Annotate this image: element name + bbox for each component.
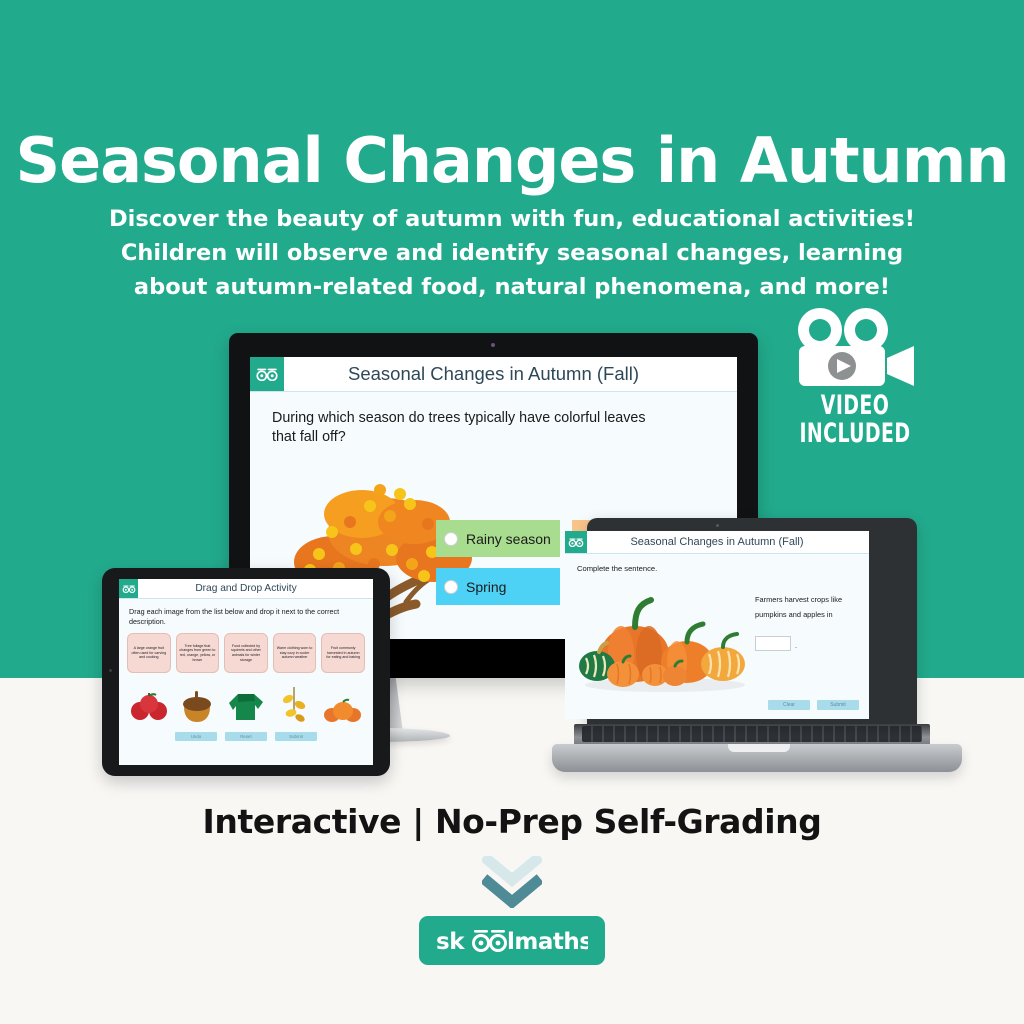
laptop-device: Seasonal Changes in Autumn (Fall) Comple…: [552, 518, 962, 780]
submit-button[interactable]: Submit: [275, 732, 317, 741]
activity-buttons: Undo Reset Submit: [175, 732, 317, 741]
subtitle-line-1: Discover the beauty of autumn with fun, …: [95, 202, 929, 236]
sentence-period: .: [795, 643, 797, 650]
submit-button[interactable]: Submit: [817, 700, 859, 710]
description-card[interactable]: Food collected by squirrels and other an…: [224, 633, 268, 673]
description-cards: A large orange fruit often used for carv…: [127, 633, 365, 673]
option-label: Rainy season: [466, 531, 551, 547]
option-spring[interactable]: Spring: [436, 568, 560, 605]
autumn-leaves-icon[interactable]: [273, 681, 317, 723]
video-badge-line-1: VIDEO: [797, 392, 914, 420]
tablet-device: Drag and Drop Activity Drag each image f…: [102, 568, 390, 776]
app-body-laptop: Complete the sentence.: [565, 554, 869, 719]
option-rainy-season[interactable]: Rainy season: [436, 520, 560, 557]
radio-icon[interactable]: [444, 532, 458, 546]
monitor-webcam-icon: [491, 343, 495, 347]
sentence-text: Farmers harvest crops like pumpkins and …: [755, 592, 863, 622]
sentence-line-2: pumpkins and apples in: [755, 607, 863, 622]
page-title: Seasonal Changes in Autumn: [0, 128, 1024, 193]
app-header-monitor: Seasonal Changes in Autumn (Fall): [250, 357, 737, 392]
skoolmaths-logo[interactable]: sk lmaths: [419, 916, 605, 965]
option-label: Spring: [466, 579, 506, 595]
subtitle-line-3: about autumn-related food, natural pheno…: [95, 270, 929, 304]
app-header-laptop: Seasonal Changes in Autumn (Fall): [565, 531, 869, 554]
laptop-action-buttons: Clear Submit: [768, 700, 859, 710]
apples-icon[interactable]: [127, 681, 171, 723]
laptop-screen: Seasonal Changes in Autumn (Fall) Comple…: [565, 531, 869, 719]
play-icon: [828, 352, 856, 380]
drag-drop-app: Drag and Drop Activity Drag each image f…: [119, 579, 373, 765]
video-badge-line-2: INCLUDED: [797, 420, 914, 448]
skoolmaths-owl-icon: [250, 357, 284, 391]
app-body-tablet: Drag each image from the list below and …: [119, 599, 373, 765]
double-chevron-down-icon: [482, 856, 542, 908]
subtitle-line-2: Children will observe and identify seaso…: [95, 236, 929, 270]
app-title-monitor: Seasonal Changes in Autumn (Fall): [284, 363, 703, 385]
radio-icon[interactable]: [444, 580, 458, 594]
tablet-screen: Drag and Drop Activity Drag each image f…: [119, 579, 373, 765]
laptop-camera-icon: [716, 524, 719, 527]
poster-canvas: Seasonal Changes in Autumn Discover the …: [0, 0, 1024, 1024]
video-badge-label: VIDEO INCLUDED: [797, 392, 914, 447]
laptop-front-notch: [728, 744, 790, 752]
green-sweater-icon[interactable]: [224, 681, 268, 723]
app-header-tablet: Drag and Drop Activity: [119, 579, 373, 599]
tablet-camera-icon: [109, 669, 112, 672]
acorn-icon[interactable]: [176, 681, 220, 723]
video-camera-icon: [788, 308, 923, 386]
video-included-badge: VIDEO INCLUDED: [780, 308, 930, 488]
pumpkins-illustration: [577, 582, 752, 692]
app-title-laptop: Seasonal Changes in Autumn (Fall): [587, 536, 847, 548]
description-card[interactable]: A large orange fruit often used for carv…: [127, 633, 171, 673]
page-subtitle: Discover the beauty of autumn with fun, …: [95, 202, 929, 305]
description-card[interactable]: Tree foliage that changes from green to …: [176, 633, 220, 673]
app-title-tablet: Drag and Drop Activity: [138, 583, 354, 594]
description-card[interactable]: Warm clothing worn to stay cozy in coole…: [273, 633, 317, 673]
pumpkins-icon[interactable]: [321, 681, 365, 723]
sentence-line-1: Farmers harvest crops like: [755, 592, 863, 607]
skoolmaths-owl-icon: [565, 531, 587, 553]
answer-input[interactable]: [755, 636, 791, 651]
undo-button[interactable]: Undo: [175, 732, 217, 741]
clear-button[interactable]: Clear: [768, 700, 810, 710]
skoolmaths-owl-icon: [119, 579, 138, 598]
skoolmaths-wordmark-icon: sk lmaths: [436, 926, 588, 956]
tagline: Interactive | No-Prep Self-Grading: [0, 802, 1024, 841]
question-text: During which season do trees typically h…: [272, 409, 672, 447]
svg-text:lmaths: lmaths: [507, 929, 588, 955]
description-card[interactable]: Fruit commonly harvested in autumn for e…: [321, 633, 365, 673]
sentence-prompt: Complete the sentence.: [577, 564, 657, 573]
activity-instruction: Drag each image from the list below and …: [129, 607, 354, 626]
svg-text:sk: sk: [436, 929, 465, 955]
draggable-images: [127, 681, 365, 723]
laptop-keyboard: [582, 726, 922, 742]
reset-button[interactable]: Reset: [225, 732, 267, 741]
sentence-app: Seasonal Changes in Autumn (Fall) Comple…: [565, 531, 869, 719]
